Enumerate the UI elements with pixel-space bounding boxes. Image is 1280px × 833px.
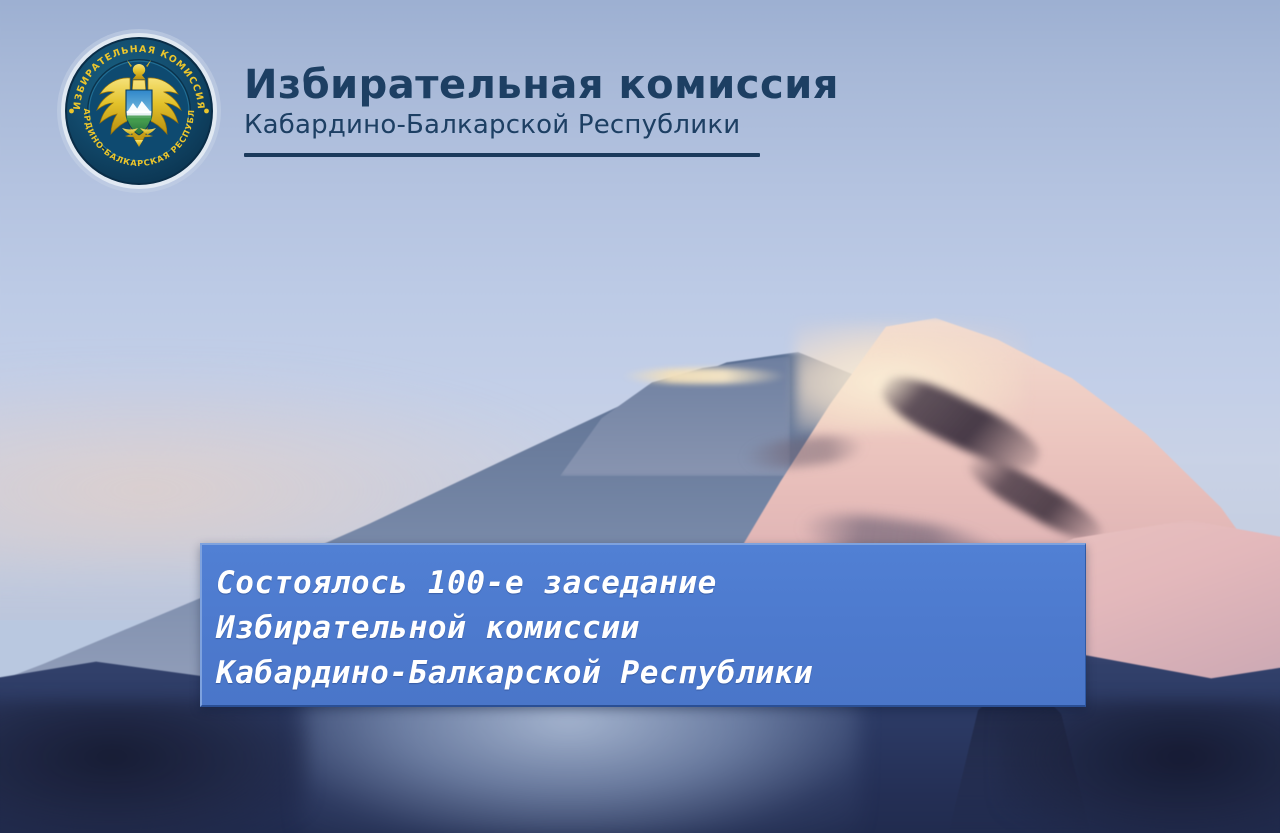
- caption-line-2: Избирательной комиссии: [216, 606, 1085, 651]
- shoulder-sunlit-rim: [622, 368, 787, 384]
- page-title: Избирательная комиссия: [244, 64, 839, 106]
- caption-line-1: Состоялось 100-е заседание: [216, 561, 1085, 606]
- masthead-divider: [244, 153, 760, 157]
- page-subtitle: Кабардино-Балкарской Республики: [244, 110, 839, 141]
- organisation-name-block: Избирательная комиссия Кабардино-Балкарс…: [244, 28, 839, 157]
- coat-of-arms-icon: ИЗБИРАТЕЛЬНАЯ КОМИССИЯ КАБАРДИНО-БАЛКАРС…: [56, 28, 222, 194]
- foreground-shadow-left: [0, 700, 310, 833]
- foreground-glacier-highlight: [300, 690, 860, 833]
- caption-banner: Состоялось 100-е заседание Избирательной…: [200, 543, 1086, 707]
- commission-emblem: ИЗБИРАТЕЛЬНАЯ КОМИССИЯ КАБАРДИНО-БАЛКАРС…: [56, 28, 222, 194]
- slide-canvas: ИЗБИРАТЕЛЬНАЯ КОМИССИЯ КАБАРДИНО-БАЛКАРС…: [0, 0, 1280, 833]
- masthead: ИЗБИРАТЕЛЬНАЯ КОМИССИЯ КАБАРДИНО-БАЛКАРС…: [56, 28, 839, 194]
- foreground-shadow-right: [1000, 700, 1280, 833]
- caption-line-3: Кабардино-Балкарской Республики: [216, 651, 1085, 696]
